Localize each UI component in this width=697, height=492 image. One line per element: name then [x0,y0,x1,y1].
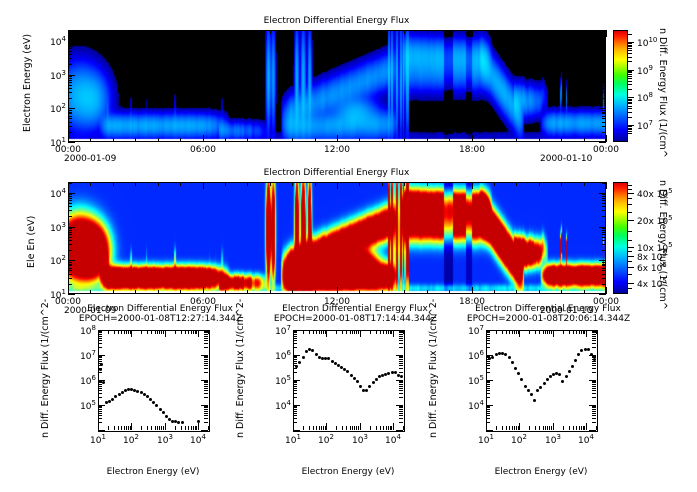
spectrum-right-yminor-tick [592,418,596,419]
spectrum-right-yminor-tick [592,340,596,341]
spectrum-right-yminor-tick [486,413,490,414]
colorbar-top-minor-tick [628,129,632,130]
spectrum-left-xmajor-tick [165,423,166,430]
spectrum-right-yminor-tick [592,397,596,398]
spectrogram-mid-yminor-tick [68,284,72,285]
spectrum-right-xminor-tick [581,426,582,430]
spectrum-mid-xminor-tick [321,330,322,334]
spectrogram-top-xtick [561,30,562,34]
spectrum-left-yminor-tick [204,406,208,407]
spectrum-right-yminor-tick [486,411,490,412]
spectrum-right-point [508,356,511,359]
spectrum-left-xminor-tick [151,330,152,334]
spectrum-left-yminor-tick [204,334,208,335]
spectrogram-mid-xtick [516,290,517,294]
spectrum-mid-yminor-tick [293,357,297,358]
spectrum-mid-yminor-tick [293,356,297,357]
spectrum-left-xminor-tick [185,426,186,430]
spectrogram-top-xtick [315,138,316,142]
spectrum-right-yminor-tick [592,372,596,373]
spectrum-mid-yminor-tick [399,411,403,412]
colorbar-mid-minor-tick [628,231,632,232]
spectrum-left-xminor-tick [118,330,119,334]
spectrum-left-point [111,398,114,401]
spectrum-mid-yminor-tick [293,361,297,362]
colorbar-top-minor-tick [628,131,632,132]
spectrum-left-point [159,408,162,411]
spectrum-right-xminor-tick [529,330,530,334]
spectrum-mid-yminor-tick [399,356,403,357]
spectrum-right-xmajor-tick [519,330,520,337]
spectrum-left-xminor-tick [141,426,142,430]
spectrum-left-xminor-tick [121,330,122,334]
spectrogram-top-colorbar-label: n Diff. Energy Flux (1/(cm^ [657,28,668,158]
spectrum-left-yminor-tick [98,393,102,394]
spectrum-mid-xminor-tick [346,426,347,430]
spectrum-mid-yminor-tick [399,406,403,407]
spectrum-mid-xminor-tick [370,426,371,430]
spectrogram-top-xtick [90,138,91,142]
spectrum-mid-xminor-tick [403,330,404,334]
spectrogram-top-xtick [225,30,226,34]
spectrogram-top-yminor-tick [68,80,72,81]
spectrogram-top-yminor-tick [602,46,606,47]
spectrum-left-xminor-tick [151,426,152,430]
spectrum-left-yminor-tick [98,382,102,383]
spectrogram-mid-xtick [203,182,204,189]
colorbar-top-minor-tick [628,34,632,35]
spectrogram-mid-xtick [158,290,159,294]
spectrum-mid-ymajor-tick [293,430,300,431]
colorbar-top-minor-tick [628,71,632,72]
spectrogram-top-xtick [180,138,181,142]
spectrum-mid-xminor-tick [352,330,353,334]
spectrogram-mid-colorbar[interactable] [613,182,628,294]
spectrogram-top-xtick [135,30,136,34]
spectrum-mid-ytick-label: 105 [263,374,291,387]
spectrum-mid-ylabel: n Diff. Energy Flux (1/(cm^2- [235,299,246,438]
spectrogram-mid-yminor-tick [68,265,72,266]
spectrogram-top-xtick [494,138,495,142]
spectrogram-top-yminor-tick [68,88,72,89]
spectrum-mid-xminor-tick [380,330,381,334]
spectrogram-mid-yminor-tick [68,232,72,233]
spectrogram-mid-xtick [472,182,473,189]
spectrogram-top-yminor-tick [68,110,72,111]
spectrum-left-ymajor-tick [98,430,105,431]
spectrum-right-yminor-tick [486,357,490,358]
spectrogram-top-ymajor-tick [599,142,606,143]
spectrum-left-xtick-label: 101 [82,433,114,446]
spectrogram-mid-plot[interactable] [68,182,606,294]
spectrogram-top-xtick [449,30,450,34]
colorbar-top-minor-tick [628,84,632,85]
spectrum-left-yminor-tick [98,418,102,419]
spectrum-mid-yminor-tick [399,338,403,339]
spectrum-left-xminor-tick [126,426,127,430]
spectrum-right-yminor-tick [486,386,490,387]
spectrogram-mid-yminor-tick [602,284,606,285]
colorbar-mid-label: 20x 105 [637,214,673,227]
spectrum-left-plot[interactable] [98,330,210,432]
spectrum-left-point [155,404,158,407]
spectrum-mid-point [350,374,353,377]
spectrum-left-yminor-tick [98,381,102,382]
spectrum-mid-yminor-tick [293,359,297,360]
spectrum-mid-xminor-tick [386,426,387,430]
spectrogram-top-xtick [292,138,293,142]
spectrogram-mid-ymajor-tick [599,294,606,295]
spectrum-mid-xtick-label: 102 [310,433,342,446]
spectrum-left-yminor-tick [204,343,208,344]
spectrogram-mid-xtick-label: 12:00 [319,297,355,307]
spectrum-mid-yminor-tick [399,418,403,419]
spectrum-left-point [177,421,180,424]
spectrogram-mid-xtick [247,290,248,294]
spectrogram-mid-xtick [606,287,607,294]
colorbar-mid-major-tick [628,256,634,257]
spectrum-right-xminor-tick [512,426,513,430]
spectrum-left-xminor-tick [181,426,182,430]
spectrogram-top-xtick [404,30,405,34]
spectrum-left-point [162,411,165,414]
spectrogram-top-xtick [135,138,136,142]
spectrum-right-yminor-tick [486,365,490,366]
spectrum-left-yminor-tick [98,361,102,362]
spectrum-right-xminor-tick [518,426,519,430]
spectrum-left-xminor-tick [161,330,162,334]
spectrogram-top-yminor-tick [602,122,606,123]
spectrum-mid-yminor-tick [399,413,403,414]
spectrum-right-point [577,353,580,356]
spectrum-mid-yminor-tick [293,386,297,387]
spectrum-mid-xminor-tick [336,330,337,334]
spectrum-right-yminor-tick [592,415,596,416]
spectrum-right-point [530,393,533,396]
spectrum-right-xmajor-tick [586,330,587,337]
spectrum-mid-yminor-tick [293,388,297,389]
spectrogram-mid-yminor-tick [68,216,72,217]
spectrum-right-xminor-tick [543,426,544,430]
spectrogram-top-yminor-tick [68,122,72,123]
spectrogram-mid-yminor-tick [68,206,72,207]
spectrogram-mid-yminor-tick [602,268,606,269]
spectrum-right-yminor-tick [592,407,596,408]
spectrum-mid-yminor-tick [293,384,297,385]
spectrum-right-xminor-tick [514,330,515,334]
spectrogram-top-xtick [584,30,585,34]
spectrogram-mid-xtick [382,182,383,186]
colorbar-top-minor-tick [628,112,632,113]
spectrogram-mid-xtick [225,290,226,294]
spectrum-right-point [533,399,536,402]
spectrum-right-plot[interactable] [486,330,598,432]
spectrum-left-yminor-tick [98,347,102,348]
spectrum-mid-yminor-tick [293,347,297,348]
spectrum-mid-yminor-tick [293,343,297,344]
spectrum-mid-xminor-tick [323,330,324,334]
spectrogram-top-yminor-tick [68,44,72,45]
colorbar-mid-minor-tick [628,212,632,213]
spectrum-mid-xminor-tick [376,330,377,334]
spectrogram-top-yminor-tick [602,132,606,133]
spectrum-left-xminor-tick [157,426,158,430]
spectrogram-mid-xtick [584,182,585,186]
spectrum-left-xtick-label: 104 [182,433,214,446]
spectrogram-top-yminor-tick [68,48,72,49]
spectrum-mid-xminor-tick [354,426,355,430]
spectrogram-mid-xtick [382,290,383,294]
spectrum-left-xmajor-tick [165,330,166,337]
spectrum-mid-yminor-tick [293,407,297,408]
spectrum-mid-xminor-tick [388,426,389,430]
colorbar-mid-minor-tick [628,261,632,262]
spectrogram-top-xtick [516,30,517,34]
spectrum-left-yminor-tick [204,390,208,391]
colorbar-mid-minor-tick [628,251,632,252]
spectrogram-mid-xtick [68,182,69,189]
spectrum-left-xminor-tick [147,426,148,430]
spectrogram-top-xtick [292,30,293,34]
spectrogram-mid-yminor-tick [602,244,606,245]
spectrum-left-yminor-tick [204,357,208,358]
spectrogram-top-xtick [359,30,360,34]
spectrum-mid-yminor-tick [399,343,403,344]
spectrogram-mid-xtick [561,290,562,294]
spectrogram-mid-xtick [427,290,428,294]
spectrogram-top-xtick [113,138,114,142]
spectrogram-mid-xtick [404,290,405,294]
spectrum-mid-yminor-tick [399,340,403,341]
spectrogram-top-yminor-tick [68,58,72,59]
spectrum-right-yminor-tick [592,406,596,407]
spectrum-mid-title: Electron Differential Energy Flux [265,304,445,314]
spectrogram-top-xtick [404,138,405,142]
spectrogram-mid-ytick-label: 103 [41,221,66,234]
spectrum-right-ytick-label: 105 [456,374,484,387]
spectrogram-top-xtick [606,30,607,37]
spectrum-mid-point [327,357,330,360]
spectrogram-mid-xtick [90,182,91,186]
spectrogram-top-yminor-tick [602,51,606,52]
spectrogram-mid-xtick [203,287,204,294]
spectrum-mid-xminor-tick [316,330,317,334]
spectrogram-top-yminor-tick [602,54,606,55]
spectrogram-mid-xtick [315,290,316,294]
spectrum-mid-xtick-label: 101 [277,433,309,446]
spectrum-left-xminor-tick [114,330,115,334]
spectrum-left-xminor-tick [161,426,162,430]
spectrum-right-yminor-tick [486,347,490,348]
spectrum-mid-yminor-tick [399,336,403,337]
spectrum-left-ytick-label: 105 [68,399,96,412]
spectrum-left-yminor-tick [98,372,102,373]
spectrum-left-xtick-label: 103 [149,433,181,446]
spectrum-left-ytick-label: 108 [68,324,96,337]
spectrum-right-yminor-tick [592,409,596,410]
spectrogram-mid-yminor-tick [602,228,606,229]
spectrum-right-xtick-label: 101 [470,433,502,446]
spectrum-right-xminor-tick [573,426,574,430]
spectrum-mid-yminor-tick [399,381,403,382]
spectrum-left-point [102,381,105,384]
spectrum-left-xminor-tick [155,426,156,430]
spectrogram-top-xtick [68,30,69,37]
spectrum-right-xtick-label: 102 [503,433,535,446]
spectrogram-mid-xtick [427,182,428,186]
spectrum-right-point [543,382,546,385]
spectrum-left-xminor-tick [128,330,129,334]
spectrum-right-xmajor-tick [486,330,487,337]
spectrum-left-yminor-tick [204,397,208,398]
spectrum-mid-yminor-tick [399,388,403,389]
spectrum-mid-point [311,349,314,352]
spectrum-left-yminor-tick [98,359,102,360]
spectrum-mid-yminor-tick [399,407,403,408]
spectrum-mid-yminor-tick [399,384,403,385]
colorbar-top-label: 108 [637,91,653,104]
spectrum-left-xminor-tick [121,426,122,430]
spectrogram-mid-yminor-tick [602,270,606,271]
spectrum-right-yminor-tick [486,343,490,344]
spectrogram-top-xtick [427,30,428,34]
spectrogram-mid-ytick-label: 102 [41,254,66,267]
spectrogram-mid-xtick [539,182,540,186]
spectrum-mid-point [387,372,390,375]
spectrum-mid-yminor-tick [293,365,297,366]
spectrogram-mid-yminor-tick [602,237,606,238]
spectrum-right-yminor-tick [486,397,490,398]
spectrum-left-yminor-tick [204,409,208,410]
spectrum-mid-point [372,381,375,384]
spectrum-mid-plot[interactable] [293,330,405,432]
spectrum-right-xtick-label: 103 [537,433,569,446]
spectrogram-mid-xtick [606,182,607,189]
spectrogram-mid-yminor-tick [68,198,72,199]
spectrum-mid-yminor-tick [293,406,297,407]
spectrum-right-yminor-tick [592,393,596,394]
spectrum-mid-ytick-label: 106 [263,349,291,362]
spectrum-right-xminor-tick [506,426,507,430]
spectrum-left-xminor-tick [185,330,186,334]
spectrogram-top-xtick-date-right: 2000-01-10 [540,154,610,164]
spectrum-right-point [571,365,574,368]
spectrum-mid-xminor-tick [313,330,314,334]
spectrogram-mid-xtick [584,290,585,294]
spectrum-right-xminor-tick [518,330,519,334]
spectrogram-top-yminor-tick [68,46,72,47]
spectrogram-mid-xtick-date-right: 2000-01-10 [540,306,610,316]
spectrogram-mid-yminor-tick [68,240,72,241]
spectrum-left-yminor-tick [204,363,208,364]
spectrum-left-yminor-tick [204,381,208,382]
spectrogram-mid-xtick [516,182,517,186]
spectrogram-mid-yminor-tick [602,265,606,266]
spectrum-mid-yminor-tick [293,382,297,383]
spectrum-right-yminor-tick [592,411,596,412]
spectrum-right-xminor-tick [576,426,577,430]
colorbar-top-major-tick [628,97,634,98]
spectrum-left-xlabel: Electron Energy (eV) [98,467,208,477]
colorbar-top-minor-tick [628,108,632,109]
spectrogram-top-yminor-tick [602,116,606,117]
spectrogram-mid-xtick [539,290,540,294]
colorbar-mid-major-tick [628,283,634,284]
spectrum-left-xminor-tick [159,426,160,430]
spectrogram-top-yminor-tick [68,132,72,133]
spectrogram-mid-yminor-tick [68,262,72,263]
spectrogram-top-yminor-tick [602,113,606,114]
spectrogram-top-colorbar[interactable] [613,30,628,142]
colorbar-top-minor-tick [628,48,632,49]
spectrum-left-yminor-tick [204,413,208,414]
spectrum-right-yminor-tick [592,381,596,382]
colorbar-mid-major-tick [628,247,634,248]
spectrum-left-yminor-tick [204,384,208,385]
spectrum-right-yminor-tick [486,409,490,410]
spectrum-right-yminor-tick [592,363,596,364]
colorbar-mid-minor-tick [628,198,632,199]
spectrogram-top-yminor-tick [602,76,606,77]
spectrum-left-point [181,421,184,424]
spectrum-mid-xmajor-tick [326,330,327,337]
spectrum-right-yminor-tick [486,363,490,364]
spectrogram-mid-yminor-tick [68,200,72,201]
spectrum-mid-yminor-tick [399,372,403,373]
spectrum-right-yminor-tick [592,368,596,369]
spectrum-mid-xminor-tick [303,426,304,430]
spectrum-mid-yminor-tick [399,422,403,423]
spectrum-mid-xminor-tick [354,330,355,334]
spectrum-right-xminor-tick [569,426,570,430]
spectrum-left-yminor-tick [204,365,208,366]
spectrum-mid-xminor-tick [370,330,371,334]
spectrogram-mid-ymajor-tick [68,294,75,295]
spectrum-right-yminor-tick [486,390,490,391]
spectrum-right-point [568,370,571,373]
spectrum-left-ymajor-tick [201,430,208,431]
spectrogram-top-yminor-tick [68,92,72,93]
spectrum-left-xminor-tick [128,426,129,430]
spectrum-mid-xlabel: Electron Energy (eV) [293,467,403,477]
spectrum-right-point [549,375,552,378]
spectrogram-mid-yminor-tick [68,210,72,211]
spectrogram-top-plot[interactable] [68,30,606,142]
spectrum-left-xminor-tick [108,330,109,334]
spectrum-left-xmajor-tick [198,330,199,337]
spectrum-right-xminor-tick [584,330,585,334]
spectrum-left-yminor-tick [98,343,102,344]
spectrogram-mid-yminor-tick [602,216,606,217]
spectrum-left-xminor-tick [163,426,164,430]
spectrogram-mid-yminor-tick [68,244,72,245]
spectrogram-mid-yminor-tick [602,194,606,195]
spectrogram-top-xtick-label: 12:00 [319,145,355,155]
spectrum-mid-yminor-tick [399,361,403,362]
spectrum-right-xminor-tick [512,330,513,334]
spectrum-right-yminor-tick [592,361,596,362]
spectrogram-top-xtick [539,30,540,34]
spectrogram-top-yminor-tick [602,42,606,43]
spectrogram-mid-xtick [404,182,405,186]
spectrogram-top-yminor-tick [68,76,72,77]
spectrum-mid-xminor-tick [313,426,314,430]
spectrum-mid-point [368,385,371,388]
spectrogram-mid-xtick [337,287,338,294]
spectrum-mid-xminor-tick [350,330,351,334]
spectrum-mid-yminor-tick [399,365,403,366]
spectrogram-top-xtick [427,138,428,142]
